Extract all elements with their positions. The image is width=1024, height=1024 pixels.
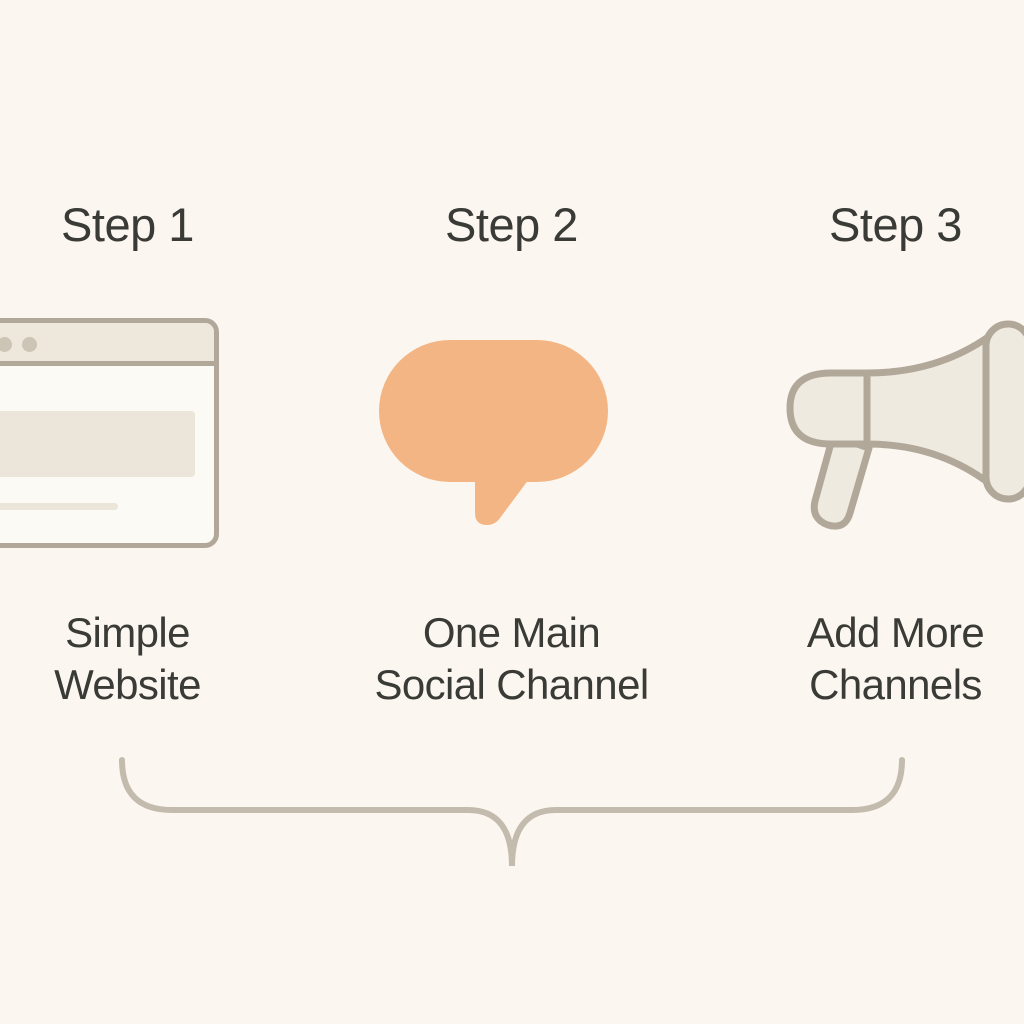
speech-bubble-icon xyxy=(379,340,624,535)
step-title-3: Step 3 xyxy=(725,196,1024,254)
step-caption-3: Add More Channels xyxy=(725,607,1024,711)
step-icon-2 xyxy=(341,300,682,560)
step-icon-3 xyxy=(725,300,1024,560)
megaphone-icon xyxy=(781,316,1024,546)
window-dot-minimize-icon xyxy=(0,337,12,352)
grouping-brace xyxy=(100,748,924,878)
browser-content-block xyxy=(0,411,195,477)
infographic-canvas: Step 1 Simple Website Step 2 xyxy=(0,0,1024,1024)
browser-titlebar xyxy=(0,323,214,366)
speech-bubble-wrap xyxy=(341,300,682,560)
window-dot-maximize-icon xyxy=(22,337,37,352)
step-caption-1: Simple Website xyxy=(0,607,298,711)
browser-window-icon xyxy=(0,318,219,548)
browser-content-line xyxy=(0,503,118,510)
step-title-2: Step 2 xyxy=(341,196,682,254)
step-icon-1 xyxy=(0,300,298,560)
step-title-1: Step 1 xyxy=(0,196,298,254)
step-caption-2: One Main Social Channel xyxy=(341,607,682,711)
